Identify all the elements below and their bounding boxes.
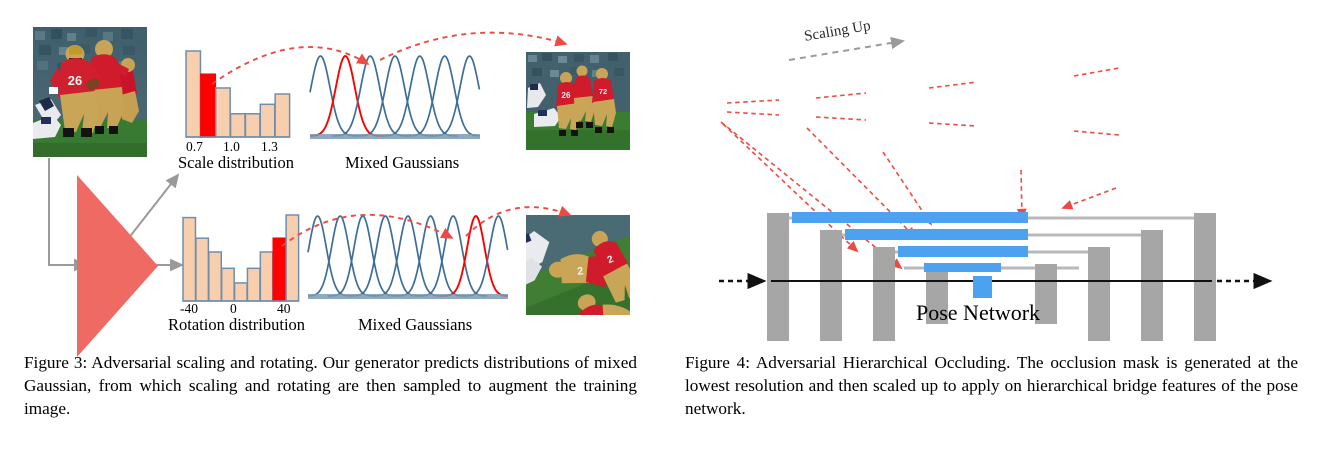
figure-4-caption: Figure 4: Adversarial Hierarchical Occlu…	[685, 352, 1298, 421]
figure-3-caption: Figure 3: Adversarial scaling and rotati…	[24, 352, 637, 421]
pose-network-title: Pose Network	[916, 300, 1040, 326]
figure3-sampling-arrows	[0, 0, 661, 340]
scale-hist-to-gaussian-arrow	[212, 47, 368, 84]
rotation-hist-to-gaussian-arrow	[282, 215, 452, 246]
figure-4-panel: Scaling Up 4 x 48 x 816 x 1632 x 3264 x …	[661, 0, 1322, 340]
bridge-bar-1	[792, 212, 1028, 223]
bridge-bar-3	[898, 246, 1028, 257]
bridge-bar-4	[924, 263, 1001, 272]
bridge-bar-2	[845, 229, 1028, 240]
pose-network	[661, 0, 1322, 340]
scale-gaussian-to-image-arrow	[380, 33, 566, 60]
figure-3-panel: 26	[0, 0, 661, 340]
rotation-gaussian-to-image-arrow	[466, 207, 570, 236]
bridge-bar-5	[973, 276, 992, 298]
